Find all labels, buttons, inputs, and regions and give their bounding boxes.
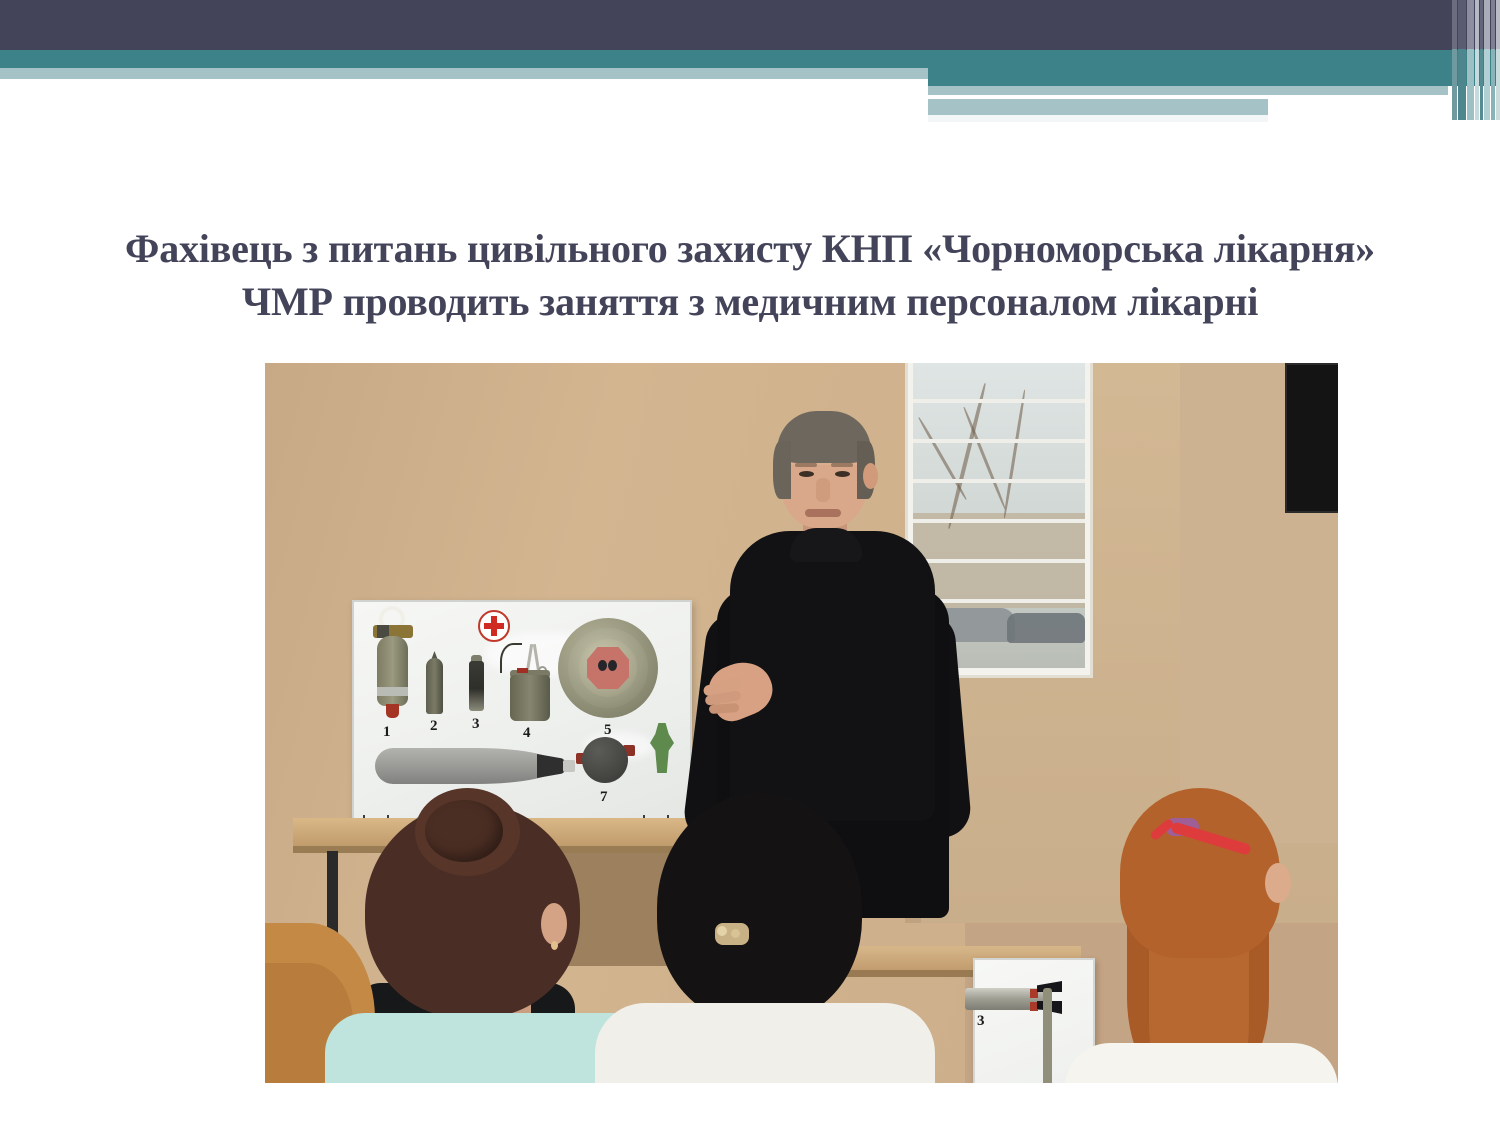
header-stripe-8 xyxy=(1496,0,1500,120)
poster2-item-number-3: 3 xyxy=(977,1013,985,1030)
title-line-1: Фахівець з питань цивільного захисту КНП… xyxy=(60,222,1440,275)
header-stripe-7 xyxy=(1491,0,1495,120)
window-car-2 xyxy=(1007,613,1085,643)
header-band-teal xyxy=(0,50,1500,68)
poster-item-3-body xyxy=(469,661,484,711)
student-2-hair-clip-bead-1 xyxy=(717,926,727,936)
student-1-earring xyxy=(551,941,558,950)
poster-item-1-band xyxy=(377,687,408,696)
poster2-item-3-marker-2 xyxy=(1030,1002,1038,1011)
poster-item-1-tip xyxy=(386,704,399,718)
header-band-pale-left xyxy=(0,68,928,79)
header-stripe-6 xyxy=(1484,0,1490,120)
header-band-pale-thin xyxy=(928,86,1448,95)
poster-item-4-body xyxy=(510,675,550,721)
poster-item-number-1: 1 xyxy=(383,724,391,741)
window-mullion-5 xyxy=(913,559,1085,563)
header-band-dark xyxy=(0,0,1500,50)
presenter-eye-left xyxy=(799,471,814,477)
poster-item-number-2: 2 xyxy=(430,718,438,735)
window-mullion-3 xyxy=(913,479,1085,483)
presenter-ear xyxy=(863,463,878,489)
window-mullion-4 xyxy=(913,519,1085,523)
presenter-collar xyxy=(790,528,862,562)
slide-title: Фахівець з питань цивільного захисту КНП… xyxy=(60,222,1440,328)
student-3-coat xyxy=(1065,1043,1338,1083)
header-stripe-4 xyxy=(1475,0,1479,120)
poster-item-6-fuze xyxy=(563,760,575,772)
title-line-2: ЧМР проводить заняття з медичним персона… xyxy=(60,275,1440,328)
poster2-item-3-marker-1 xyxy=(1030,989,1038,998)
student-3-ear xyxy=(1265,863,1291,903)
poster-item-number-4: 4 xyxy=(523,725,531,742)
poster-item-number-3: 3 xyxy=(472,716,480,733)
wall-mounted-tv xyxy=(1285,363,1338,513)
student-1-hair-bun-inner xyxy=(425,800,503,862)
poster-item-5-detail-1 xyxy=(598,660,607,671)
header-band-faint xyxy=(928,115,1268,122)
presenter-hair-left xyxy=(773,441,791,499)
poster-item-2-body xyxy=(426,658,443,714)
header-vertical-stripes xyxy=(1440,0,1500,120)
header-band-teal-right xyxy=(928,68,1500,86)
presenter-eye-right xyxy=(835,471,850,477)
red-cross-vertical xyxy=(491,616,497,636)
poster-item-number-7: 7 xyxy=(600,789,608,806)
slide-photo: 1 2 3 4 5 6 7 3 4 xyxy=(265,363,1338,1083)
student-3-hair xyxy=(1120,788,1280,958)
header-stripe-1 xyxy=(1452,0,1457,120)
header-stripe-5 xyxy=(1480,0,1483,120)
student-2-coat xyxy=(595,1003,935,1083)
window-mullion-2 xyxy=(913,439,1085,443)
presenter-mouth xyxy=(805,509,841,517)
slide-header-decoration xyxy=(0,0,1500,120)
poster-item-4-marker xyxy=(517,668,528,673)
student-2-hair-clip-bead-2 xyxy=(731,929,740,938)
poster-item-6-body xyxy=(375,748,560,784)
student-1-ear xyxy=(541,903,567,945)
presenter-brow-left xyxy=(795,463,817,467)
presenter-brow-right xyxy=(831,463,853,467)
window-mullion-1 xyxy=(913,399,1085,403)
poster-item-7-body xyxy=(582,737,628,783)
poster-item-5-detail-2 xyxy=(608,660,617,671)
poster2-item-4-rod xyxy=(1043,988,1052,1083)
header-stripe-3 xyxy=(1467,0,1474,120)
presenter-nose xyxy=(816,478,830,502)
student-2-head xyxy=(657,793,862,1023)
header-stripe-2 xyxy=(1458,0,1466,120)
